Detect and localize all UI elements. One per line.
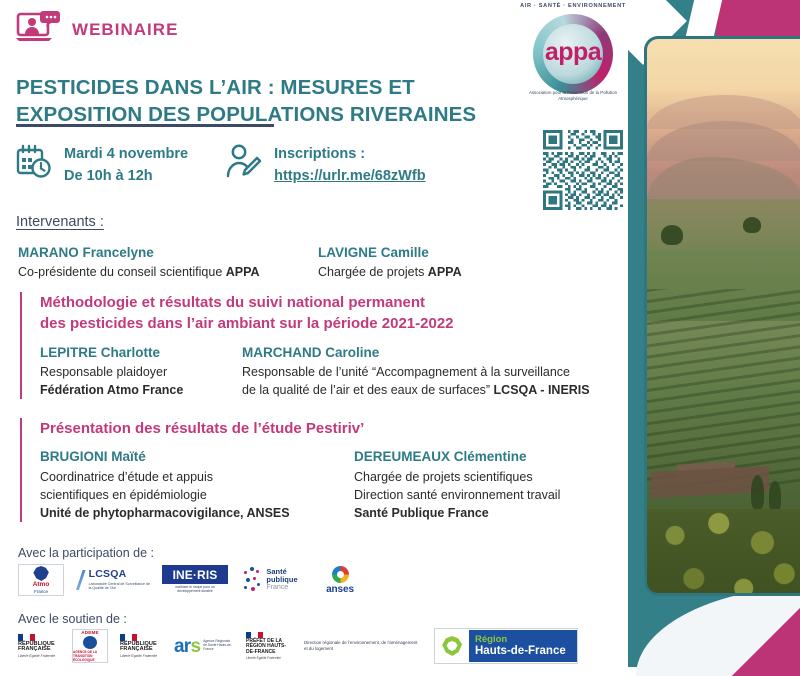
region-line2: Hauts-de-France (475, 645, 577, 657)
calendar-clock-icon (16, 144, 52, 185)
session-title: Présentation des résultats de l’étude Pe… (40, 418, 620, 439)
speaker-role: Coordinatrice d’étude et appuis scientif… (40, 468, 340, 522)
speaker-role-line: Direction santé environnement travail (354, 488, 560, 502)
speaker-role-line: de la qualité de l’air et des eaux de su… (242, 383, 494, 397)
registration-text: Inscriptions : https://urlr.me/68zWfb (274, 144, 425, 188)
prefet-devise: Liberté Égalité Fraternité (246, 656, 281, 660)
speaker-role: Chargée de projets APPA (318, 263, 618, 281)
ars-logo: ars Agence Régionale de Santé Hauts-de-F… (174, 631, 234, 661)
atmo-sub: France (34, 590, 48, 595)
rf-name: RÉPUBLIQUE FRANÇAISE (18, 642, 60, 654)
session-speaker: MARCHAND Caroline Responsable de l’unité… (242, 343, 604, 400)
page-title-line2: EXPOSITION DES POPULATIONS RIVERAINES (16, 103, 476, 126)
speaker-role-line: Responsable plaidoyer (40, 365, 167, 379)
spf-line2: publique (266, 576, 297, 584)
lead-speakers-grid: MARANO Francelyne Co-présidente du conse… (18, 243, 618, 281)
session-title-line1: Présentation des résultats de l’étude Pe… (40, 420, 364, 437)
speaker-org: Unité de phytopharmacovigilance, ANSES (40, 506, 290, 520)
webinar-badge: WEBINAIRE (16, 10, 178, 49)
page-title-line1: PESTICIDES DANS L’AIR : MESURES ET (16, 76, 415, 99)
speaker-org: Fédération Atmo France (40, 383, 183, 397)
lead-speaker: MARANO Francelyne Co-présidente du conse… (18, 243, 318, 281)
atmo-france-logo: Atmo France (18, 564, 64, 596)
speaker-role-line: Responsable de l’unité “Accompagnement à… (242, 365, 570, 379)
session-block: Méthodologie et résultats du suivi natio… (20, 292, 620, 399)
republique-francaise-logo-2: RÉPUBLIQUE FRANÇAISE Liberté Égalité Fra… (120, 631, 162, 661)
white-swoosh-shape (636, 586, 800, 676)
lcsqa-logo: LCSQA Laboratoire Central de Surveillanc… (76, 565, 150, 595)
session-title-line2: des pesticides dans l’air ambiant sur la… (40, 315, 454, 332)
page-title: PESTICIDES DANS L’AIR : MESURES ET EXPOS… (16, 74, 576, 128)
speaker-role-line: Coordinatrice d’étude et appuis (40, 470, 213, 484)
event-date-item: Mardi 4 novembre De 10h à 12h (16, 144, 188, 188)
speaker-role: Responsable de l’unité “Accompagnement à… (242, 363, 590, 399)
rf-devise: Liberté Égalité Fraternité (18, 654, 55, 658)
ineris-name: INE·RIS (162, 565, 228, 584)
event-date-line1: Mardi 4 novembre (64, 144, 188, 166)
ademe-name: ADEME (81, 630, 99, 635)
speaker-name: MARCHAND Caroline (242, 343, 590, 363)
speaker-role: Responsable plaidoyer Fédération Atmo Fr… (40, 363, 228, 399)
magenta-corner-block (716, 0, 800, 40)
spf-line3: France (266, 584, 297, 592)
session-title-line1: Méthodologie et résultats du suivi natio… (40, 294, 425, 311)
rf2-devise: Liberté Égalité Fraternité (120, 654, 157, 658)
ademe-logo: ADEME AGENCE DE LA TRANSITION ÉCOLOGIQUE (72, 629, 108, 663)
dreal-logo: Direction régionale de l’environnement, … (304, 634, 422, 658)
prefet-hauts-de-france-logo: PRÉFET DE LA RÉGION HAUTS-DE-FRANCE Libe… (246, 630, 292, 662)
support-logo-row: RÉPUBLIQUE FRANÇAISE Liberté Égalité Fra… (18, 628, 578, 664)
prefet-name: PRÉFET DE LA RÉGION HAUTS-DE-FRANCE (246, 639, 292, 656)
speaker-role: Co-présidente du conseil scientifique AP… (18, 263, 318, 281)
atmo-name: Atmo (33, 582, 50, 589)
session-speaker: DEREUMEAUX Clémentine Chargée de projets… (354, 447, 574, 522)
speaker-name: BRUGIONI Maïté (40, 447, 340, 467)
participation-logo-row: Atmo France LCSQA Laboratoire Central de… (18, 564, 366, 596)
speaker-org: APPA (226, 265, 260, 279)
white-notch-shape (685, 0, 723, 40)
speaker-org: LCSQA - INERIS (494, 383, 590, 397)
ars-sub: Agence Régionale de Santé Hauts-de-Franc… (203, 640, 234, 652)
session-speakers: BRUGIONI Maïté Coordinatrice d’étude et … (40, 447, 620, 522)
anses-logo: anses (314, 564, 366, 596)
ineris-sub: maîtriser le risque pour un développemen… (162, 584, 228, 595)
poster-content: WEBINAIRE PESTICIDES DANS L’AIR : MESURE… (0, 0, 628, 667)
speakers-section-label: Intervenants : (16, 214, 104, 230)
region-line1: Région (475, 635, 577, 645)
rf2-name: RÉPUBLIQUE FRANÇAISE (120, 642, 162, 654)
registration-item: Inscriptions : https://urlr.me/68zWfb (226, 144, 425, 188)
lcsqa-name: LCSQA (89, 569, 150, 580)
session-speaker: LEPITRE Charlotte Responsable plaidoyer … (40, 343, 242, 400)
event-date-text: Mardi 4 novembre De 10h à 12h (64, 144, 188, 188)
speaker-name: LEPITRE Charlotte (40, 343, 228, 363)
session-title: Méthodologie et résultats du suivi natio… (40, 292, 620, 335)
registration-link[interactable]: https://urlr.me/68zWfb (274, 166, 425, 188)
speaker-role: Chargée de projets scientifiques Directi… (354, 468, 560, 522)
speaker-name: LAVIGNE Camille (318, 243, 618, 263)
session-speaker: BRUGIONI Maïté Coordinatrice d’étude et … (40, 447, 354, 522)
title-divider (16, 124, 274, 127)
ademe-sub: AGENCE DE LA TRANSITION ÉCOLOGIQUE (73, 650, 107, 662)
speaker-role-line: Chargée de projets scientifiques (354, 470, 533, 484)
region-hauts-de-france-logo: Région Hauts-de-France (434, 628, 578, 664)
republique-francaise-logo: RÉPUBLIQUE FRANÇAISE Liberté Égalité Fra… (18, 631, 60, 661)
speaker-role-line: scientifiques en épidémiologie (40, 488, 207, 502)
speaker-org: APPA (428, 265, 462, 279)
ineris-logo: INE·RIS maîtriser le risque pour un déve… (162, 565, 228, 595)
speaker-name: MARANO Francelyne (18, 243, 318, 263)
lcsqa-sub: Laboratoire Central de Surveillance de l… (89, 582, 150, 591)
webinar-label: WEBINAIRE (72, 20, 178, 40)
speaker-role-text: Co-présidente du conseil scientifique (18, 265, 226, 279)
anses-name: anses (326, 584, 354, 595)
lead-speaker: LAVIGNE Camille Chargée de projets APPA (318, 243, 618, 281)
session-speakers: LEPITRE Charlotte Responsable plaidoyer … (40, 343, 620, 400)
ars-name: ars (174, 637, 200, 656)
magenta-bottom-wedge (712, 586, 800, 676)
event-info-row: Mardi 4 novembre De 10h à 12h Inscriptio… (16, 144, 426, 188)
session-block: Présentation des résultats de l’étude Pe… (20, 418, 620, 522)
registration-label: Inscriptions : (274, 144, 425, 166)
speaker-org: Santé Publique France (354, 506, 489, 520)
participation-label: Avec la participation de : (18, 546, 154, 560)
speaker-name: DEREUMEAUX Clémentine (354, 447, 560, 467)
vineyard-sunset-photo (644, 36, 800, 596)
support-label: Avec le soutien de : (18, 612, 127, 626)
webinar-laptop-icon (16, 10, 62, 49)
sante-publique-france-logo: Santé publique France (240, 564, 302, 596)
speaker-role-text: Chargée de projets (318, 265, 428, 279)
event-date-line2: De 10h à 12h (64, 166, 188, 188)
person-pen-icon (226, 144, 262, 185)
